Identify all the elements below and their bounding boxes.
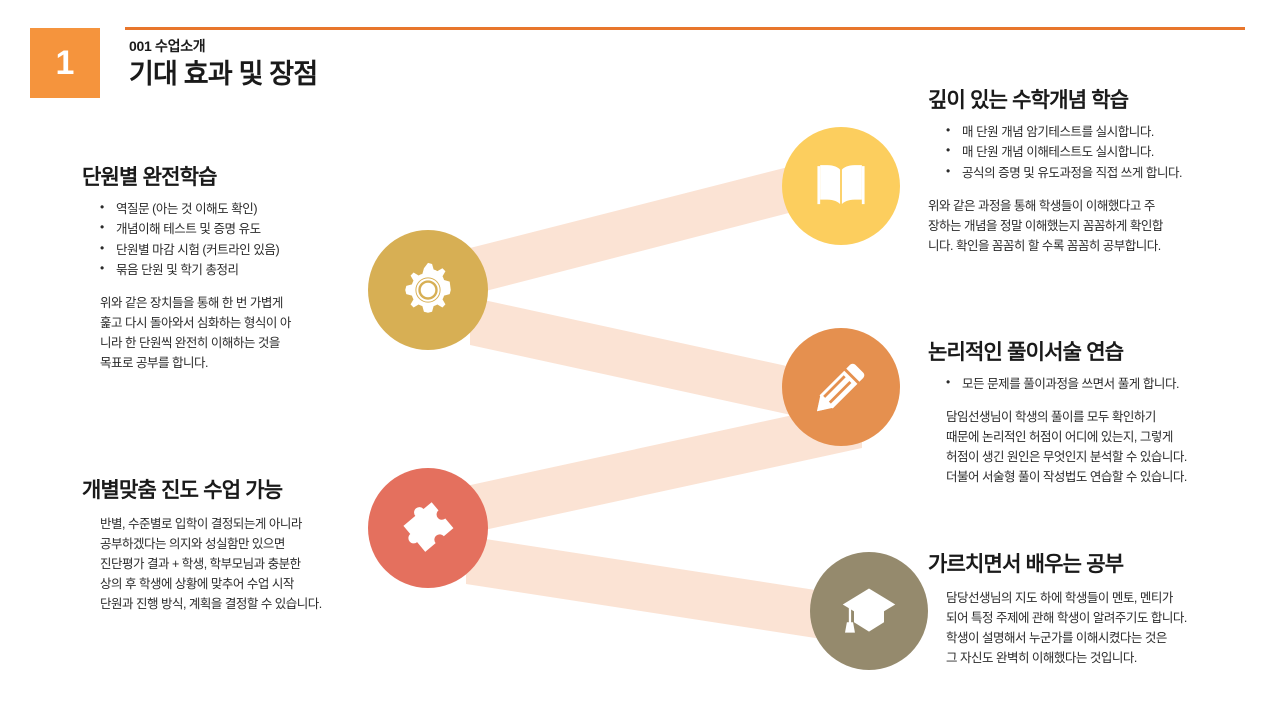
list-item: 공식의 증명 및 유도과정을 직접 쓰게 합니다. xyxy=(946,163,1258,183)
block-paragraph: 담당선생님의 지도 하에 학생들이 멘토, 멘티가 되어 특정 주제에 관해 학… xyxy=(946,588,1258,668)
pencil-node[interactable] xyxy=(782,328,900,446)
block-title: 단원별 완전학습 xyxy=(82,165,382,190)
block-right-2: 논리적인 풀이서술 연습 모든 문제를 풀이과정을 쓰면서 풀게 합니다. 담임… xyxy=(928,340,1263,487)
gear-node[interactable] xyxy=(368,230,488,350)
block-paragraph: 반별, 수준별로 입학이 결정되는게 아니라 공부하겠다는 의지와 성실함만 있… xyxy=(100,514,382,614)
list-item: 묶음 단원 및 학기 총정리 xyxy=(100,260,382,280)
bullet-list: 모든 문제를 풀이과정을 쓰면서 풀게 합니다. xyxy=(928,374,1263,394)
block-left-bottom: 개별맞춤 진도 수업 가능 반별, 수준별로 입학이 결정되는게 아니라 공부하… xyxy=(82,478,382,614)
block-paragraph: 위와 같은 장치들을 통해 한 번 가볍게 훑고 다시 돌아와서 심화하는 형식… xyxy=(100,293,382,373)
slide-canvas: 1 001 수업소개 기대 효과 및 장점 xyxy=(0,0,1280,720)
list-item: 개념이해 테스트 및 증명 유도 xyxy=(100,219,382,239)
gear-icon xyxy=(397,259,459,321)
block-title: 논리적인 풀이서술 연습 xyxy=(928,340,1263,365)
graduation-cap-icon xyxy=(839,581,899,641)
puzzle-node[interactable] xyxy=(368,468,488,588)
block-right-3: 가르치면서 배우는 공부 담당선생님의 지도 하에 학생들이 멘토, 멘티가 되… xyxy=(928,552,1258,668)
open-book-icon xyxy=(812,157,870,215)
pencil-icon xyxy=(812,358,870,416)
block-left-top: 단원별 완전학습 역질문 (아는 것 이해도 확인) 개념이해 테스트 및 증명… xyxy=(82,165,382,373)
list-item: 매 단원 개념 이해테스트도 실시합니다. xyxy=(946,142,1258,162)
list-item: 모든 문제를 풀이과정을 쓰면서 풀게 합니다. xyxy=(946,374,1263,394)
bullet-list: 역질문 (아는 것 이해도 확인) 개념이해 테스트 및 증명 유도 단원별 마… xyxy=(82,199,382,280)
block-paragraph: 담임선생님이 학생의 풀이를 모두 확인하기 때문에 논리적인 허점이 어디에 … xyxy=(946,407,1263,487)
book-node[interactable] xyxy=(782,127,900,245)
block-title: 개별맞춤 진도 수업 가능 xyxy=(82,478,382,503)
puzzle-piece-icon xyxy=(397,497,459,559)
cap-node[interactable] xyxy=(810,552,928,670)
block-title: 깊이 있는 수학개념 학습 xyxy=(928,88,1258,113)
bullet-list: 매 단원 개념 암기테스트를 실시합니다. 매 단원 개념 이해테스트도 실시합… xyxy=(928,122,1258,183)
list-item: 역질문 (아는 것 이해도 확인) xyxy=(100,199,382,219)
list-item: 매 단원 개념 암기테스트를 실시합니다. xyxy=(946,122,1258,142)
list-item: 단원별 마감 시험 (커트라인 있음) xyxy=(100,240,382,260)
block-paragraph: 위와 같은 과정을 통해 학생들이 이해했다고 주 장하는 개념을 정말 이해했… xyxy=(928,196,1258,256)
block-title: 가르치면서 배우는 공부 xyxy=(928,552,1258,577)
block-right-1: 깊이 있는 수학개념 학습 매 단원 개념 암기테스트를 실시합니다. 매 단원… xyxy=(928,88,1258,256)
